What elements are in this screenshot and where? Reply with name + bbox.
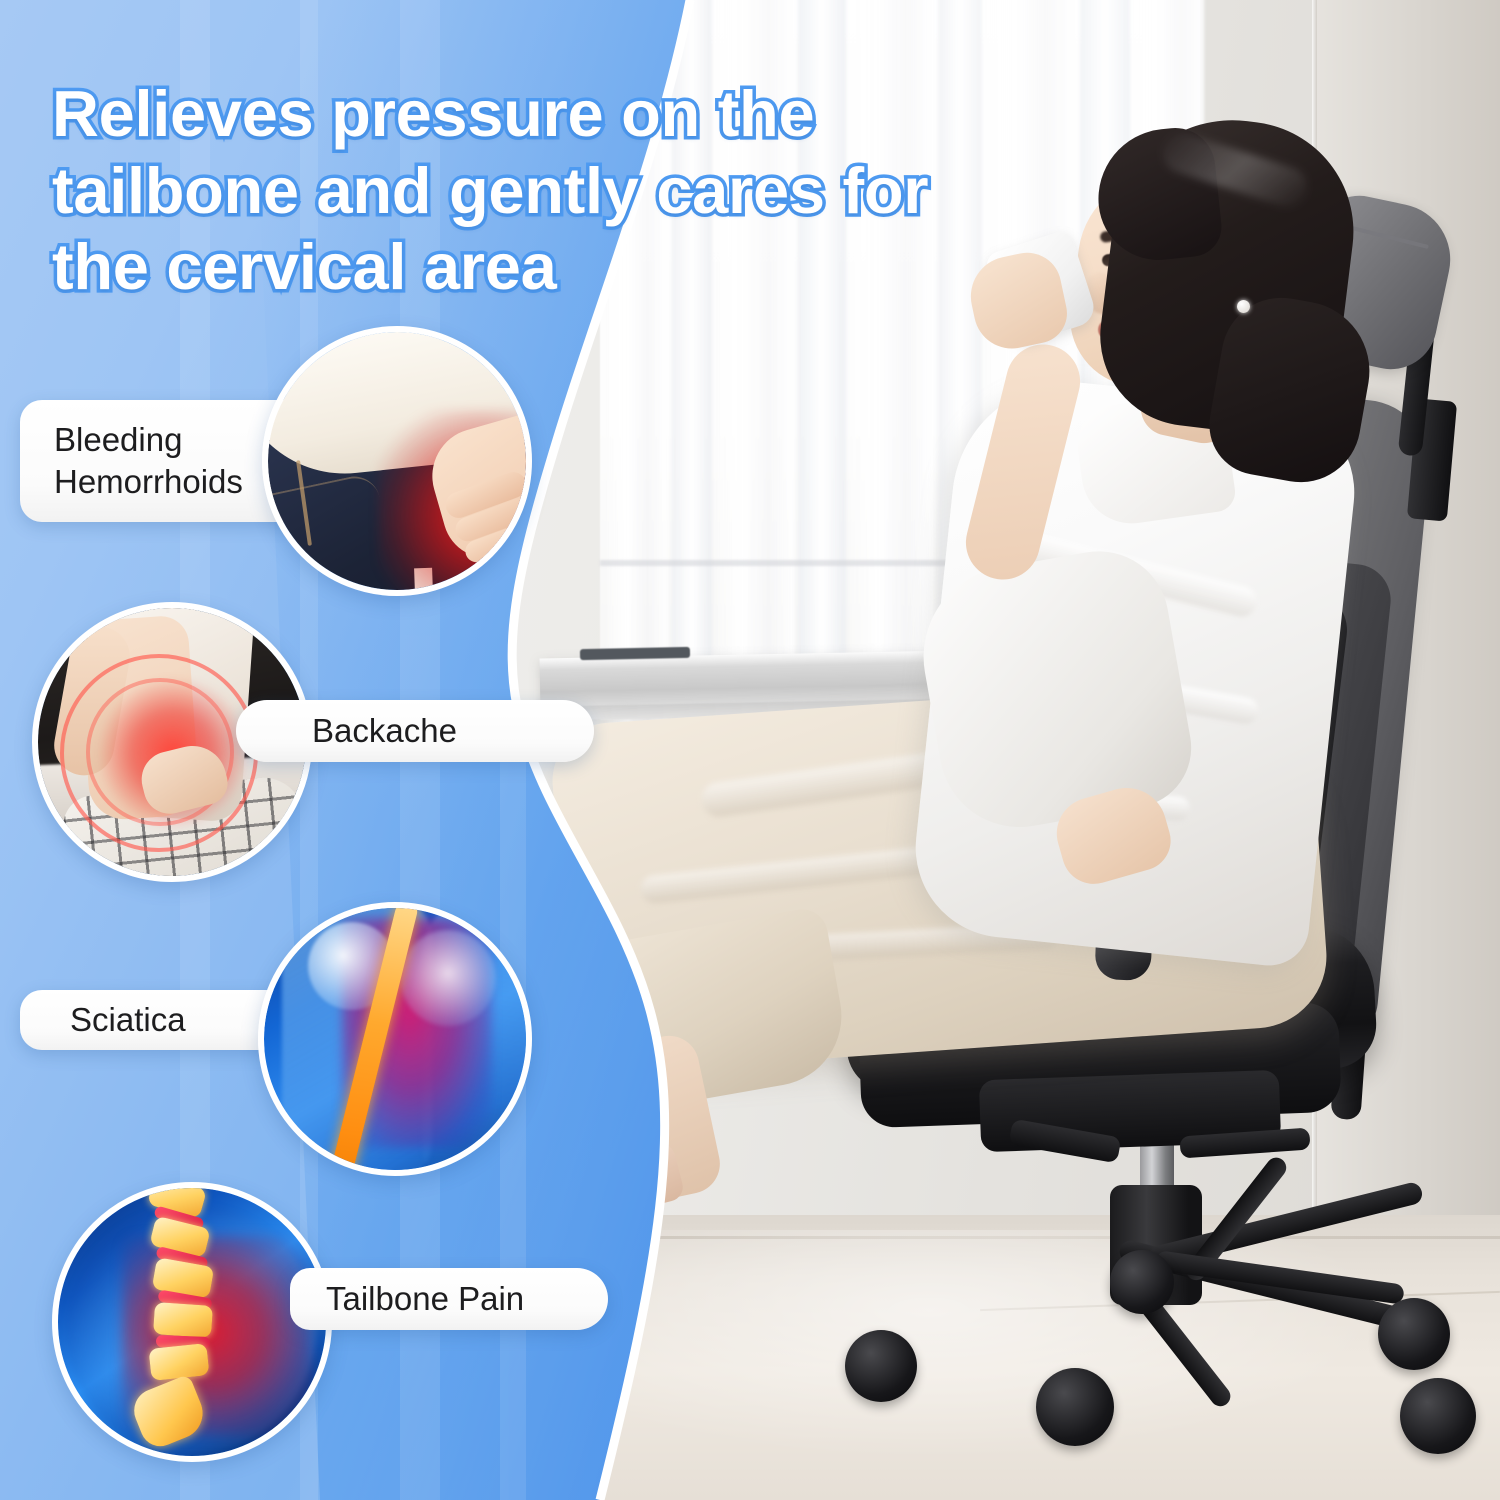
vertebra — [148, 1343, 209, 1381]
label-bleeding-hemorrhoids-line1: Bleeding — [54, 419, 182, 461]
label-backache-text: Backache — [312, 712, 457, 750]
label-tailbone-pain-text: Tailbone Pain — [326, 1280, 524, 1318]
inset-hemorrhoids-photo — [262, 326, 532, 596]
product-marketing-image: Relieves pressure on the tailbone and ge… — [0, 0, 1500, 1500]
label-tailbone-pain[interactable]: Tailbone Pain — [290, 1268, 608, 1330]
chair-caster — [1110, 1250, 1174, 1314]
chair-caster — [1378, 1298, 1450, 1370]
vertebra — [153, 1302, 213, 1338]
laptop-edge — [580, 647, 690, 660]
inset-tailbone-diagram — [52, 1182, 332, 1462]
woman-earring — [1237, 300, 1250, 313]
chair-caster — [1036, 1368, 1114, 1446]
label-bleeding-hemorrhoids-line2: Hemorrhoids — [54, 461, 243, 503]
chair-caster — [845, 1330, 917, 1402]
hip-bone — [400, 930, 496, 1026]
headline-line-2: tailbone and gently cares for — [52, 153, 1042, 230]
chair-caster — [1400, 1378, 1476, 1454]
label-backache[interactable]: Backache — [236, 700, 594, 762]
headline-line-1: Relieves pressure on the — [52, 76, 1042, 153]
inset-sciatica-diagram — [258, 902, 532, 1176]
page-headline: Relieves pressure on the tailbone and ge… — [52, 76, 1042, 306]
label-sciatica-text: Sciatica — [70, 1001, 186, 1039]
headline-line-3: the cervical area — [52, 229, 1042, 306]
